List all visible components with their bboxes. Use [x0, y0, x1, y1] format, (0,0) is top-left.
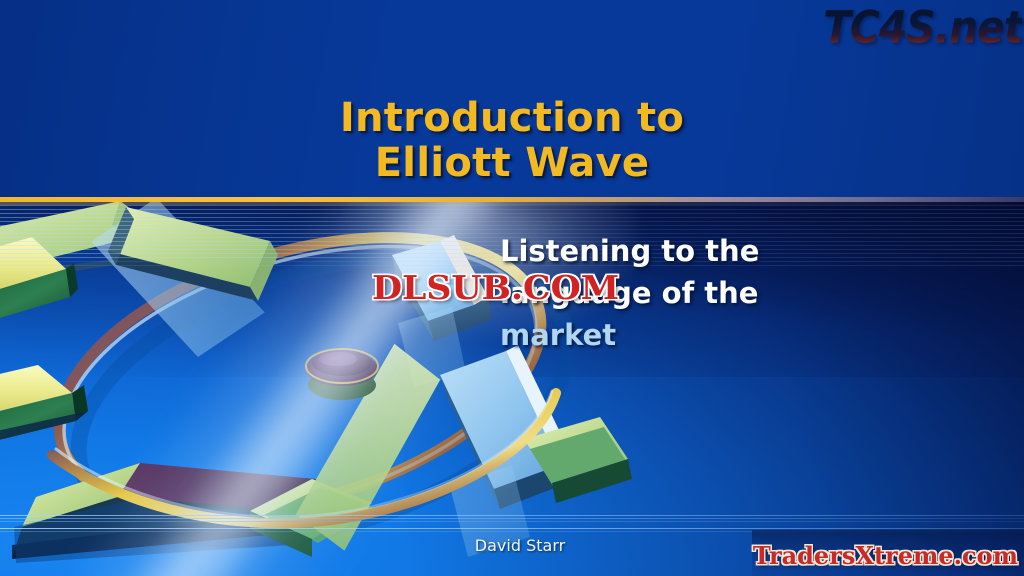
dlsub-watermark: DLSUB.COM — [372, 268, 619, 307]
subtitle-accent-text: market — [500, 318, 616, 352]
scanlines-left — [0, 197, 560, 259]
tradersxtreme-logo: TradersXtreme.com — [753, 541, 1018, 570]
accent-line — [0, 528, 1024, 529]
gold-divider-glow — [0, 202, 1024, 205]
accent-line — [0, 515, 1024, 516]
author-name: David Starr — [400, 536, 640, 555]
accent-line — [0, 521, 1024, 522]
page-title: Introduction to Elliott Wave — [0, 96, 1024, 186]
tc4s-logo: TC4S.net — [823, 2, 1022, 54]
accent-line — [0, 518, 1024, 519]
presentation-slide: Introduction to Elliott Wave Listening t… — [0, 0, 1024, 576]
